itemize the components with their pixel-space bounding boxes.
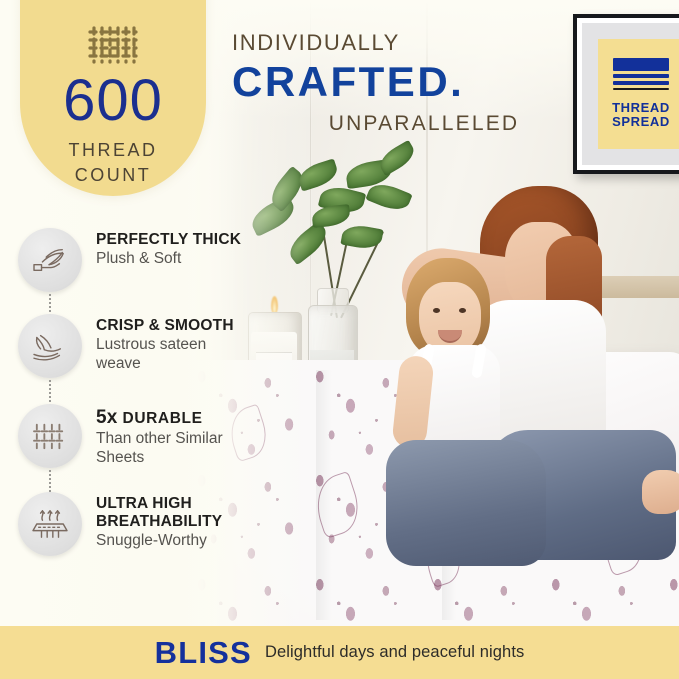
hand-feather-touch-icon [18, 228, 82, 292]
feature-subtitle: Snuggle-Worthy [96, 532, 246, 551]
feature-title-main: DURABLE [123, 410, 203, 427]
banner-tagline: Delightful days and peaceful nights [265, 643, 524, 662]
feature-title: 5xDURABLE [96, 407, 256, 429]
feature-title: CRISP & SMOOTH [96, 317, 246, 335]
airflow-breathability-icon [18, 492, 82, 556]
brand-logo-frame: THREAD SPREAD [573, 14, 679, 174]
thread-count-label-line2: COUNT [20, 165, 206, 186]
bottom-banner: BLISS Delightful days and peaceful night… [0, 626, 679, 679]
feature-title-prefix: 5x [96, 407, 118, 428]
feature-list: PERFECTLY THICK Plush & Soft [18, 228, 258, 556]
sheet-fold-1 [316, 370, 332, 620]
child-jeans [386, 440, 546, 566]
woven-thread-icon [86, 22, 140, 68]
mother-foot [642, 470, 679, 514]
headline-main: CRAFTED. [232, 60, 562, 105]
headline-subline: UNPARALLELED [232, 112, 562, 136]
feature-title: ULTRA HIGH BREATHABILITY [96, 495, 246, 531]
feature-item-breathability: ULTRA HIGH BREATHABILITY Snuggle-Worthy [18, 492, 258, 556]
child-eye-left [433, 308, 440, 313]
feature-item-crisp-smooth: CRISP & SMOOTH Lustrous sateen weave [18, 314, 258, 378]
banner-title: BLISS [155, 635, 252, 671]
feature-item-perfectly-thick: PERFECTLY THICK Plush & Soft [18, 228, 258, 292]
logo-plate: THREAD SPREAD [598, 39, 679, 149]
woven-grid-icon [18, 404, 82, 468]
thread-count-label-line1: THREAD [20, 140, 206, 161]
feature-subtitle: Plush & Soft [96, 250, 241, 269]
feature-subtitle: Lustrous sateen weave [96, 336, 246, 373]
child-eye-right [459, 308, 466, 313]
headline-block: INDIVIDUALLY CRAFTED. UNPARALLELED [232, 30, 562, 136]
hand-smooth-fabric-icon [18, 314, 82, 378]
feature-item-durable: 5xDURABLE Than other Similar Sheets [18, 404, 258, 468]
product-infographic: 600 THREAD COUNT INDIVIDUALLY CRAFTED. U… [0, 0, 679, 679]
headline-eyebrow: INDIVIDUALLY [232, 30, 562, 56]
stacked-bars-mark-icon [613, 58, 669, 93]
logo-mat: THREAD SPREAD [582, 23, 679, 165]
brand-name-line2: SPREAD [612, 115, 670, 130]
feature-subtitle: Than other Similar Sheets [96, 430, 256, 467]
thread-count-number: 600 [20, 72, 206, 130]
brand-name-line1: THREAD [612, 101, 670, 116]
feature-title: PERFECTLY THICK [96, 231, 241, 249]
thread-count-badge: 600 THREAD COUNT [20, 0, 206, 196]
brand-name: THREAD SPREAD [612, 101, 670, 130]
